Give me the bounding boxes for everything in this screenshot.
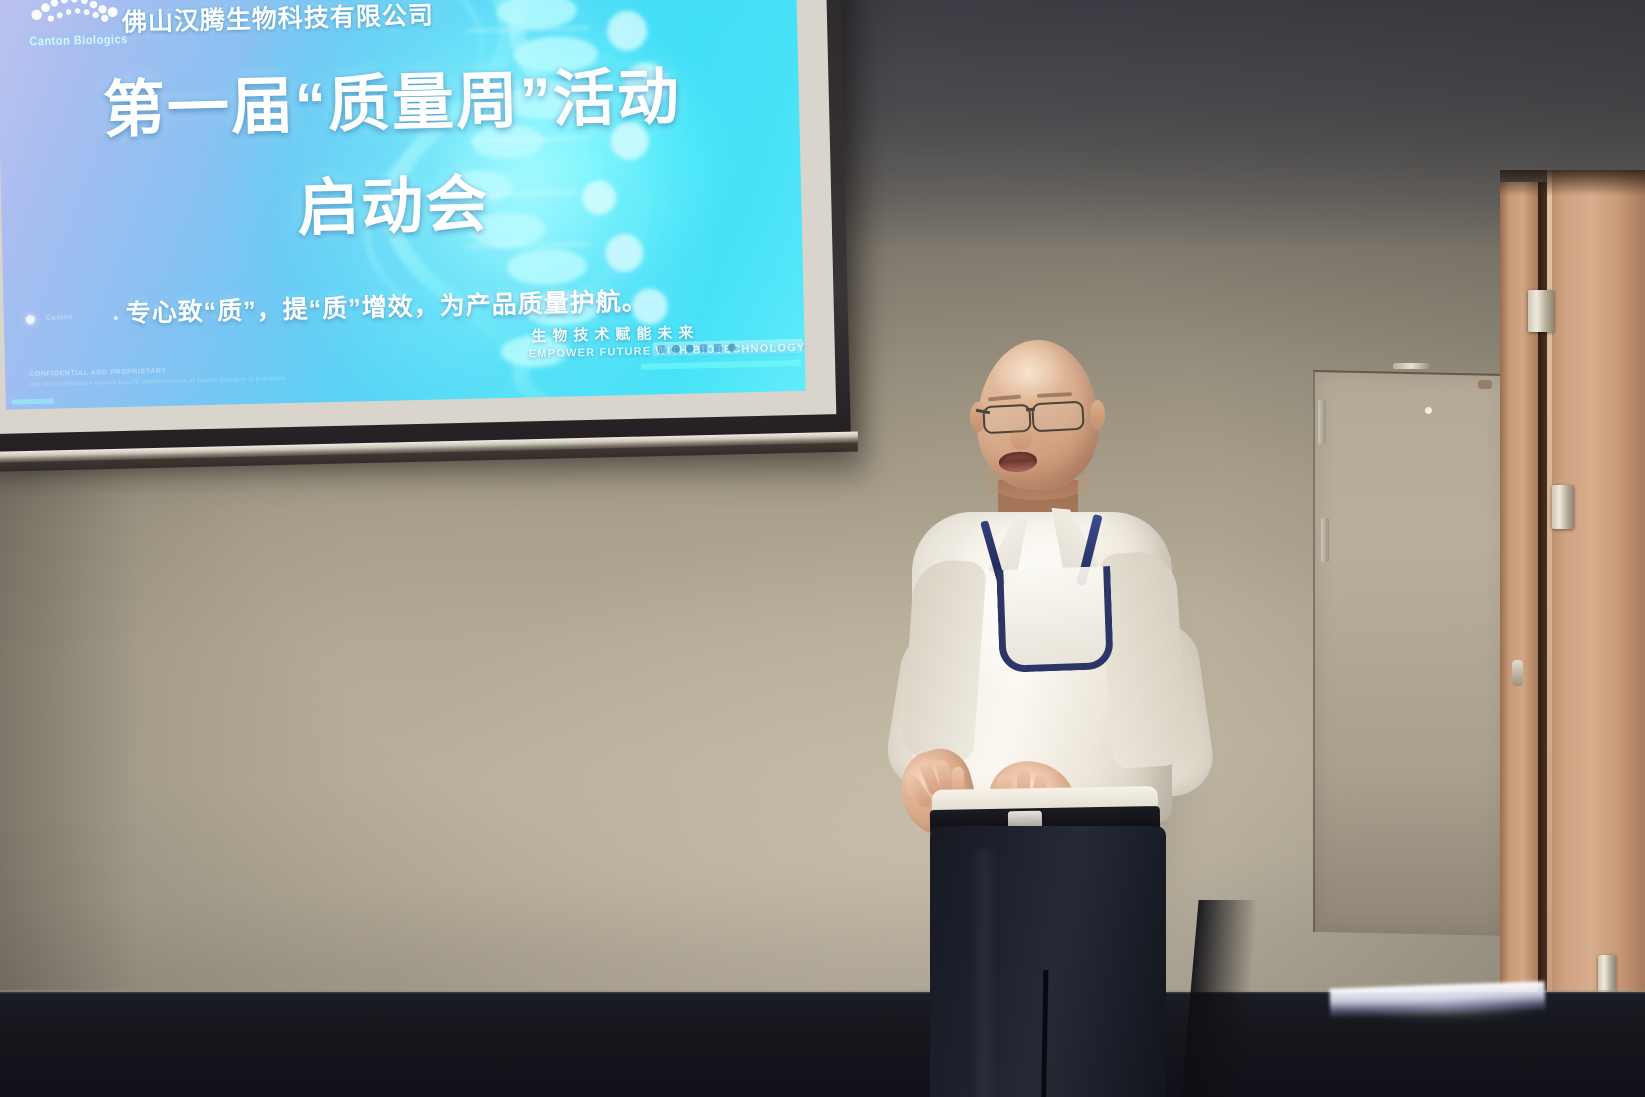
slide-page-dot-small: [114, 316, 118, 320]
panel-hinge-bottom: [1321, 518, 1329, 562]
door-handle[interactable]: [1512, 660, 1523, 686]
taskbar-icon-1: [658, 345, 666, 353]
panel-bracket: [1393, 363, 1429, 369]
taskbar-icon-5: [714, 344, 722, 352]
presenter-left-shoulder: [901, 558, 987, 763]
presenter-shirt-placket: [996, 566, 1114, 673]
door-hinge-middle: [1552, 485, 1574, 529]
panel-hinge-top: [1318, 400, 1326, 444]
photo-scene: Canton Biologics 佛山汉腾生物科技有限公司 第一届“质量周”活动…: [0, 0, 1645, 1097]
presenter-nose: [1010, 426, 1032, 450]
projection-screen: Canton Biologics 佛山汉腾生物科技有限公司 第一届“质量周”活动…: [0, 0, 851, 456]
door-top-shadow: [1500, 170, 1645, 196]
company-logo: Canton Biologics: [26, 0, 135, 49]
door-hinge-top: [1528, 290, 1554, 332]
logo-wordmark: Canton Biologics: [29, 33, 128, 49]
panel-knob: [1478, 380, 1492, 389]
taskbar-icon-3: [686, 344, 694, 352]
taskbar-icon-4: [700, 344, 708, 352]
glasses-lens-right: [1031, 401, 1084, 433]
presentation-slide: Canton Biologics 佛山汉腾生物科技有限公司 第一届“质量周”活动…: [0, 0, 806, 410]
slide-title-line2: 启动会: [296, 153, 490, 247]
taskbar-icon-2: [672, 345, 680, 353]
trousers-highlight: [972, 850, 996, 1097]
wooden-door[interactable]: [1547, 170, 1645, 1050]
presenter: [880, 330, 1280, 1097]
presenter-right-shoulder: [1099, 550, 1190, 770]
slide-title-line1: 第一届“质量周”活动: [102, 46, 682, 150]
presenter-trousers: [930, 826, 1166, 1097]
wall-access-panel: [1313, 370, 1505, 936]
presenter-chin-shadow: [985, 462, 1091, 500]
presenter-ear-right: [1090, 400, 1105, 430]
slide-accent-bar-left: [12, 399, 54, 405]
taskbar-icon-6: [728, 343, 736, 351]
slide-page-marker: Canton: [46, 314, 74, 322]
panel-screw: [1425, 407, 1432, 414]
dna-loop-logo-icon: [26, 0, 135, 35]
